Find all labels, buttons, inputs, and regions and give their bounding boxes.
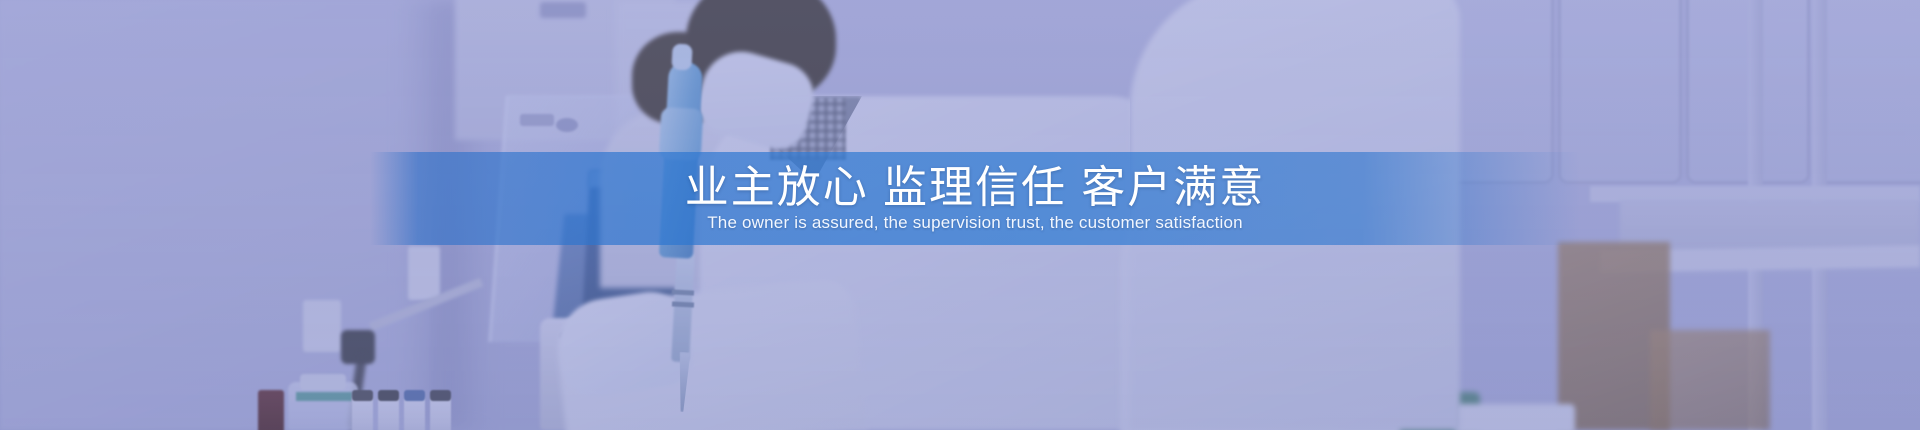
banner-subheadline: The owner is assured, the supervision tr…	[707, 213, 1243, 233]
caption-band: 业主放心 监理信任 客户满意 The owner is assured, the…	[370, 152, 1580, 245]
hero-banner: 业主放心 监理信任 客户满意 The owner is assured, the…	[0, 0, 1920, 430]
banner-headline: 业主放心 监理信任 客户满意	[685, 164, 1265, 212]
